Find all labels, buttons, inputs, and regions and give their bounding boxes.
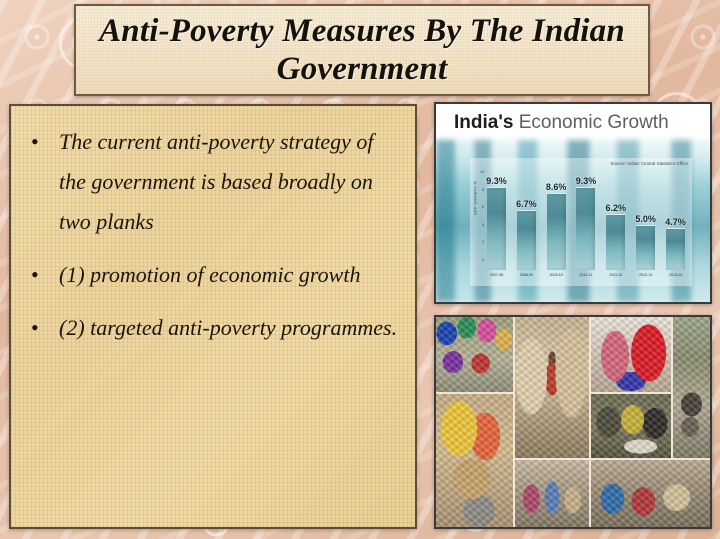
y-tick: 0 bbox=[474, 258, 484, 262]
bar-rect bbox=[547, 193, 566, 270]
list-item: (2) targeted anti-poverty programmes. bbox=[25, 308, 401, 348]
chart-bars: 9.3% 6.7% 8.6% 9.3% 6.2% 5.0% bbox=[484, 170, 688, 270]
list-item: The current anti-poverty strategy of the… bbox=[25, 122, 401, 242]
chart-x-tick-labels: 2007-08 2008-09 2009-10 2010-11 2011-12 … bbox=[484, 273, 688, 285]
bar-column: 9.3% bbox=[484, 170, 509, 270]
x-tick: 2008-09 bbox=[514, 273, 539, 277]
economic-growth-chart-image: India's Economic Growth Source: Indian C… bbox=[434, 102, 712, 304]
y-tick: 2 bbox=[474, 240, 484, 244]
x-tick: 2010-11 bbox=[573, 273, 598, 277]
x-tick: 2009-10 bbox=[544, 273, 569, 277]
collage-photo-crowded-market-street bbox=[515, 460, 589, 527]
bar-rect bbox=[666, 228, 685, 270]
collage-photo-women-queue-at-distribution bbox=[591, 460, 710, 527]
bar-rect bbox=[636, 225, 655, 270]
x-tick: 2012-13 bbox=[633, 273, 658, 277]
bar-column: 6.7% bbox=[514, 170, 539, 270]
chart-title-light: Economic Growth bbox=[513, 112, 668, 133]
bar-rect bbox=[487, 187, 506, 270]
content-text-panel: The current anti-poverty strategy of the… bbox=[9, 104, 417, 529]
slide-title-banner: Anti-Poverty Measures By The Indian Gove… bbox=[74, 4, 650, 96]
x-tick: 2007-08 bbox=[484, 273, 509, 277]
bar-value-label: 9.3% bbox=[486, 176, 507, 186]
collage-photo-village-street-with-goats bbox=[673, 317, 710, 458]
collage-photo-women-sorting-goods bbox=[591, 394, 670, 458]
collage-photo-boy-with-grain-storage-bins bbox=[515, 317, 589, 458]
x-tick: 2013-14 bbox=[663, 273, 688, 277]
bar-value-label: 6.7% bbox=[516, 199, 537, 209]
bar-value-label: 4.7% bbox=[665, 217, 686, 227]
collage-photo-woman-in-yellow-sari-grinding bbox=[436, 394, 513, 527]
chart-source-note: Source: Indian Central Statistics Office bbox=[611, 161, 688, 166]
bar-rect bbox=[606, 214, 625, 270]
collage-photo-two-women-in-red-and-pink-veils bbox=[591, 317, 670, 392]
bar-rect bbox=[517, 210, 536, 270]
y-tick: 6 bbox=[474, 205, 484, 209]
chart-title-bold: India's bbox=[454, 112, 513, 133]
bar-rect bbox=[576, 187, 595, 270]
bar-column: 5.0% bbox=[633, 170, 658, 270]
bar-value-label: 6.2% bbox=[606, 203, 627, 213]
bar-column: 9.3% bbox=[573, 170, 598, 270]
collage-photo-women-seated-in-circle bbox=[436, 317, 513, 392]
chart-y-tick-labels: 10 8 6 4 2 0 bbox=[474, 170, 484, 262]
y-tick: 4 bbox=[474, 223, 484, 227]
bar-value-label: 9.3% bbox=[576, 176, 597, 186]
chart-title: India's Economic Growth bbox=[454, 112, 669, 134]
bar-value-label: 5.0% bbox=[635, 214, 656, 224]
y-tick: 10 bbox=[474, 170, 484, 174]
chart-plot-area: Source: Indian Central Statistics Office… bbox=[470, 158, 692, 286]
page-title: Anti-Poverty Measures By The Indian Gove… bbox=[76, 12, 648, 89]
photo-collage-grid bbox=[436, 317, 710, 527]
x-tick: 2011-12 bbox=[603, 273, 628, 277]
bar-column: 6.2% bbox=[603, 170, 628, 270]
bar-value-label: 8.6% bbox=[546, 182, 567, 192]
photo-collage-panel bbox=[434, 315, 712, 529]
bar-column: 4.7% bbox=[663, 170, 688, 270]
bar-column: 8.6% bbox=[544, 170, 569, 270]
y-tick: 8 bbox=[474, 188, 484, 192]
list-item: (1) promotion of economic growth bbox=[25, 255, 401, 295]
bullet-list: The current anti-poverty strategy of the… bbox=[25, 122, 401, 348]
